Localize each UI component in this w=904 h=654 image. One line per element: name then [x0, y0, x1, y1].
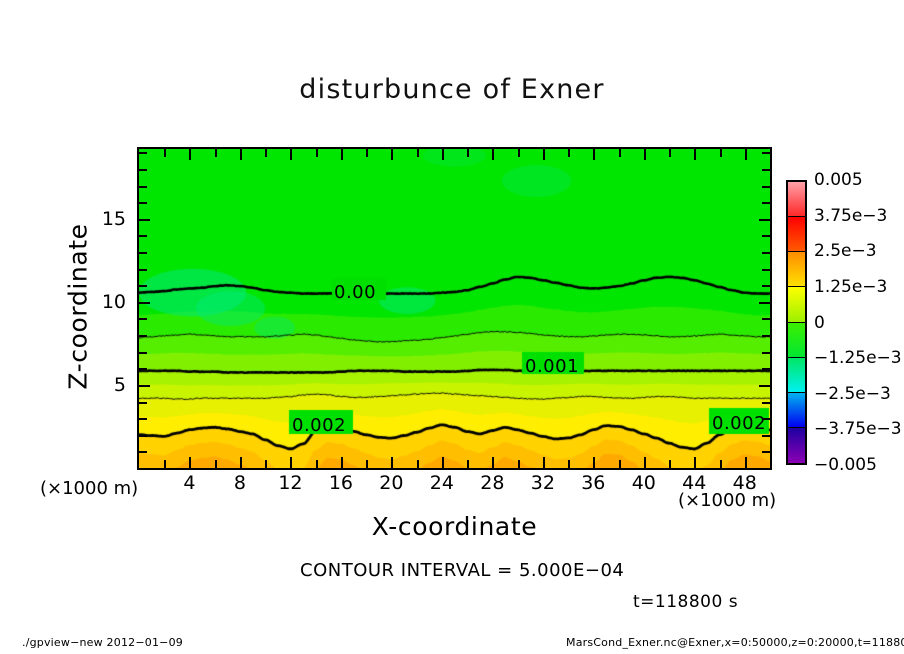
colorbar-tick-label: −0.005 — [814, 455, 877, 475]
y-axis-unit-label: (×1000 m) — [40, 478, 138, 499]
colorbar-band — [788, 287, 805, 322]
contour-inline-label: 0.001 — [525, 356, 579, 377]
colorbar-tick-label: 0 — [814, 313, 825, 333]
time-annotation: t=118800 s — [633, 592, 738, 612]
colorbar — [786, 180, 807, 465]
colorbar-band — [788, 182, 805, 217]
x-axis-title: X-coordinate — [137, 512, 772, 541]
colorbar-band — [788, 358, 805, 393]
x-axis-unit-label: (×1000 m) — [678, 490, 776, 511]
contour-inline-label: 0.002 — [292, 415, 346, 436]
contour-inline-label: 0.00 — [334, 282, 376, 303]
colorbar-band — [788, 393, 805, 428]
colorbar-tick-label: −2.5e−3 — [814, 384, 891, 404]
contour-label-layer: 0.000.0010.0020.002 — [0, 0, 904, 654]
colorbar-tick-label: 2.5e−3 — [814, 241, 877, 261]
footer-dataset-spec: MarsCond_Exner.nc@Exner,x=0:50000,z=0:20… — [566, 636, 904, 649]
footer-command-date: ./gpview−new 2012−01−09 — [22, 636, 183, 649]
colorbar-band — [788, 323, 805, 358]
colorbar-tick-label: 1.25e−3 — [814, 277, 887, 297]
colorbar-tick-label: 0.005 — [814, 170, 863, 190]
colorbar-tick-label: −1.25e−3 — [814, 348, 902, 368]
colorbar-band — [788, 217, 805, 252]
y-axis-title: Z-coordinate — [64, 187, 93, 427]
colorbar-tick-label: 3.75e−3 — [814, 206, 887, 226]
colorbar-band — [788, 252, 805, 287]
contour-interval-annotation: CONTOUR INTERVAL = 5.000E−04 — [300, 560, 624, 581]
colorbar-band — [788, 428, 805, 463]
contour-inline-label: 0.002 — [712, 413, 766, 434]
colorbar-tick-label: −3.75e−3 — [814, 419, 902, 439]
